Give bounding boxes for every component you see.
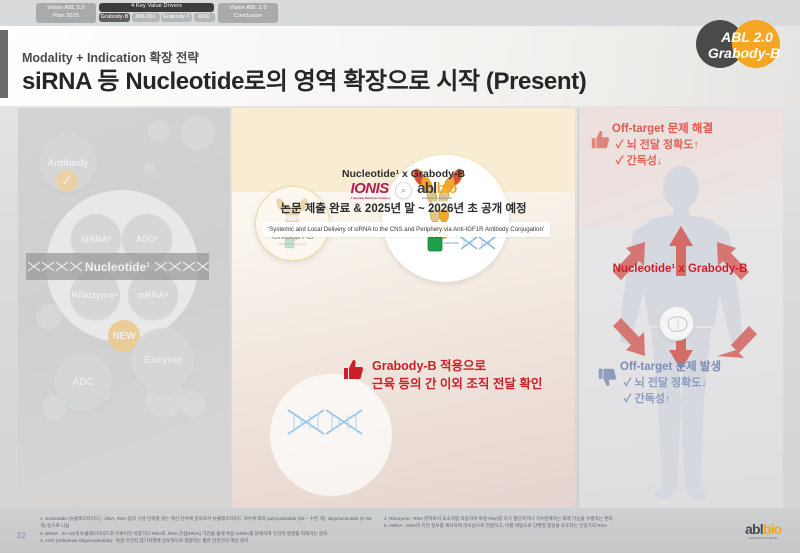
- ionis-logo-text: IONIS: [350, 180, 388, 197]
- off-target-solved-item-2: ✓ 간독성↓: [616, 152, 662, 168]
- off-target-issue-title: Off-target 문제 발생: [620, 358, 721, 374]
- nav-right-line2: Conclusion: [234, 13, 263, 21]
- footnote-1: 1. Nucleotide (뉴클레오타이드) : DNA, RNA 등의 구성…: [40, 515, 375, 530]
- grabody-b-logo-sub: ABL Bio의 BBB 셔틀 플랫폼: [256, 242, 329, 246]
- nav-vision-conclusion[interactable]: Vision ABL 2.0 Conclusion: [218, 3, 278, 23]
- footnote-5: 5. mRNA : DNA의 유전 정보를 복사하여 리보솜으로 전달하고, 이…: [384, 522, 719, 529]
- footnotes-left: 1. Nucleotide (뉴클레오타이드) : DNA, RNA 등의 구성…: [40, 515, 375, 545]
- nav-tab-grabody-b[interactable]: Grabody-B: [99, 13, 130, 22]
- grabody-result-line2: 근육 등의 간 이외 조직 전달 확인: [372, 375, 542, 393]
- right-panel-scrim: [579, 108, 783, 508]
- right-center-label: Nucleotide¹ x Grabody-B: [578, 263, 782, 275]
- footnotes-right: 4. Ribozyme : RNA 분자로서 효소처럼 작용하여 특정 RNA를…: [384, 515, 719, 530]
- off-target-solved-item-1: ✓ 뇌 전달 정확도↑: [616, 136, 699, 152]
- nav-right-line1: Vision ABL 2.0: [229, 5, 266, 13]
- footnote-4: 4. Ribozyme : RNA 분자로서 효소처럼 작용하여 특정 RNA를…: [384, 515, 719, 522]
- thumbs-up-icon-right: [589, 129, 611, 156]
- off-target-panel: [578, 108, 783, 508]
- magnifier-icon: ⌕: [395, 182, 412, 199]
- abl-grabody-badge: ABL 2.0 Grabody-B: [694, 18, 792, 70]
- nav-vision-plan[interactable]: Vision ABL 2.0 Plan 2025: [36, 3, 96, 23]
- ablbio-logo-a: abl: [417, 180, 436, 197]
- off-target-issue-item-1: ✓ 뇌 전달 정확도↓: [624, 374, 707, 390]
- badge-line2: Grabody-B: [698, 45, 790, 61]
- page-title: siRNA 등 Nucleotide로의 영역 확장으로 시작 (Present…: [22, 61, 586, 96]
- modality-map-panel: Antibody ✓ siRNA² ASO³ Ribozyme⁴ mRNA⁵: [18, 108, 230, 508]
- nav-value-drivers-header[interactable]: 4 Key Value Drivers: [99, 3, 214, 12]
- footer-ablbio-logo: ablbio medicines for unmet life: [745, 521, 781, 540]
- slide: Vision ABL 2.0 Plan 2025 4 Key Value Dri…: [0, 0, 800, 553]
- nav-sub-tabs: Grabody-B ABL001 Grabody-T ADC: [99, 13, 215, 22]
- nav-tab-abl001[interactable]: ABL001: [132, 13, 160, 22]
- footer-logo-b: bio: [763, 521, 782, 537]
- footnote-3: 3. ASO (Antisense Oligonucleotide) : 특정 …: [40, 537, 375, 544]
- magnifier-glyph: ⌕: [401, 185, 406, 196]
- off-target-solved-title: Off-target 문제 해결: [612, 120, 713, 136]
- partner-logos: IONIS A Specialty Medicines Company ⌕ ab…: [232, 180, 575, 200]
- grabody-result-line1: Grabody-B 적용으로: [372, 357, 542, 375]
- left-panel-scrim: [18, 108, 230, 508]
- thumbs-up-icon-mid: [341, 358, 365, 387]
- paper-title-quote: 'Systemic and Local Delivery of siRNA to…: [262, 222, 550, 237]
- footnote-2: 2. siRNA : 21~23개 뉴클레오타이드로 이루어진 이중가닥 RNA…: [40, 530, 375, 537]
- ionis-logo: IONIS A Specialty Medicines Company: [350, 180, 390, 200]
- thumbs-down-icon-right: [596, 366, 618, 393]
- title-accent-bar: [0, 30, 8, 98]
- nav-left-line2: Plan 2025: [53, 13, 79, 21]
- conjugate-caption: Nucleotide¹ x Grabody-B: [232, 168, 575, 180]
- nav-tab-grabody-t[interactable]: Grabody-T: [161, 13, 192, 22]
- nav-tab-adc[interactable]: ADC: [194, 13, 215, 22]
- top-navigation: Vision ABL 2.0 Plan 2025 4 Key Value Dri…: [0, 0, 800, 26]
- nav-value-drivers-group: 4 Key Value Drivers Grabody-B ABL001 Gra…: [99, 3, 214, 22]
- publication-status: 논문 제출 완료 & 2025년 말 ~ 2026년 초 공개 예정: [232, 200, 575, 216]
- nav-left-line1: Vision ABL 2.0: [47, 5, 84, 13]
- badge-line1: ABL 2.0: [704, 29, 790, 45]
- ablbio-logo-b: bio: [436, 180, 456, 197]
- grabody-result-message: Grabody-B 적용으로 근육 등의 간 이외 조직 전달 확인: [372, 357, 542, 393]
- footer-logo-sub: medicines for unmet life: [745, 537, 781, 540]
- ablbio-logo: ablbio medicines for unmet life: [417, 180, 456, 200]
- page-number: 22: [17, 531, 26, 540]
- off-target-issue-item-2: ✓ 간독성↑: [624, 390, 670, 406]
- footer-logo-a: abl: [745, 521, 763, 537]
